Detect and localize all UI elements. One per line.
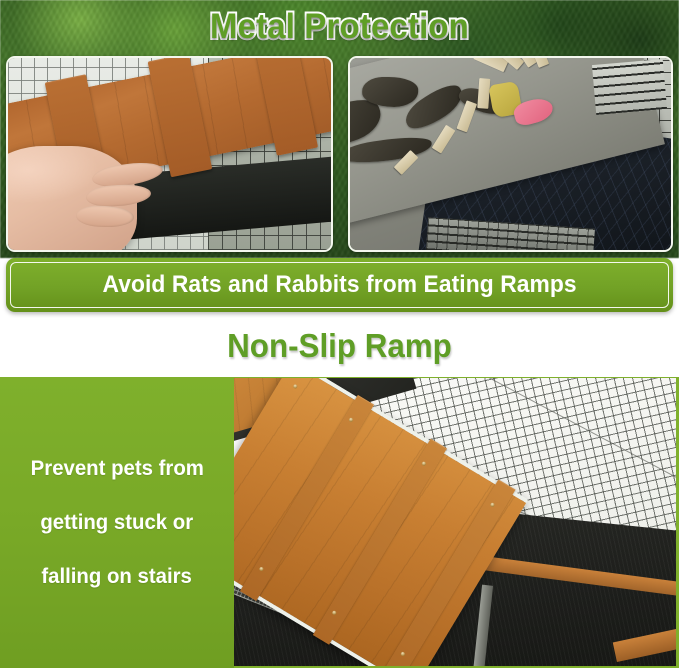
ramp-slat (147, 58, 212, 177)
non-slip-ramp-section: Non-Slip Ramp Prevent pets from getting … (0, 318, 679, 668)
installed-ramp-photo (234, 377, 679, 668)
avoid-rats-banner: Avoid Rats and Rabbits from Eating Ramps (6, 258, 673, 312)
caption-line-3: falling on stairs (42, 565, 193, 589)
ramp-with-metal-edge-photo (6, 56, 333, 252)
ramp-screw (292, 383, 297, 388)
metal-protection-section: Metal Protection (0, 0, 679, 318)
wood-splinter (457, 100, 477, 132)
non-slip-ramp-body: Prevent pets from getting stuck or falli… (0, 377, 679, 668)
metal-protection-photo-row (0, 56, 679, 252)
caption-line-2: getting stuck or (41, 511, 194, 535)
avoid-rats-banner-text: Avoid Rats and Rabbits from Eating Ramps (102, 271, 576, 299)
prevent-pets-caption-panel: Prevent pets from getting stuck or falli… (0, 377, 234, 668)
metal-protection-title: Metal Protection (20, 5, 658, 49)
non-slip-ramp-title: Non-Slip Ramp (17, 324, 662, 368)
wood-splinter (473, 58, 509, 72)
wood-splinter (476, 78, 489, 109)
wood-splinter (432, 124, 455, 152)
wood-debris (361, 77, 417, 107)
wire-panel-top-right (592, 59, 667, 115)
wood-debris (350, 133, 433, 167)
caption-line-1: Prevent pets from (30, 457, 203, 481)
chewed-wood-damage-photo (348, 56, 673, 252)
ramp-slat (253, 58, 318, 155)
